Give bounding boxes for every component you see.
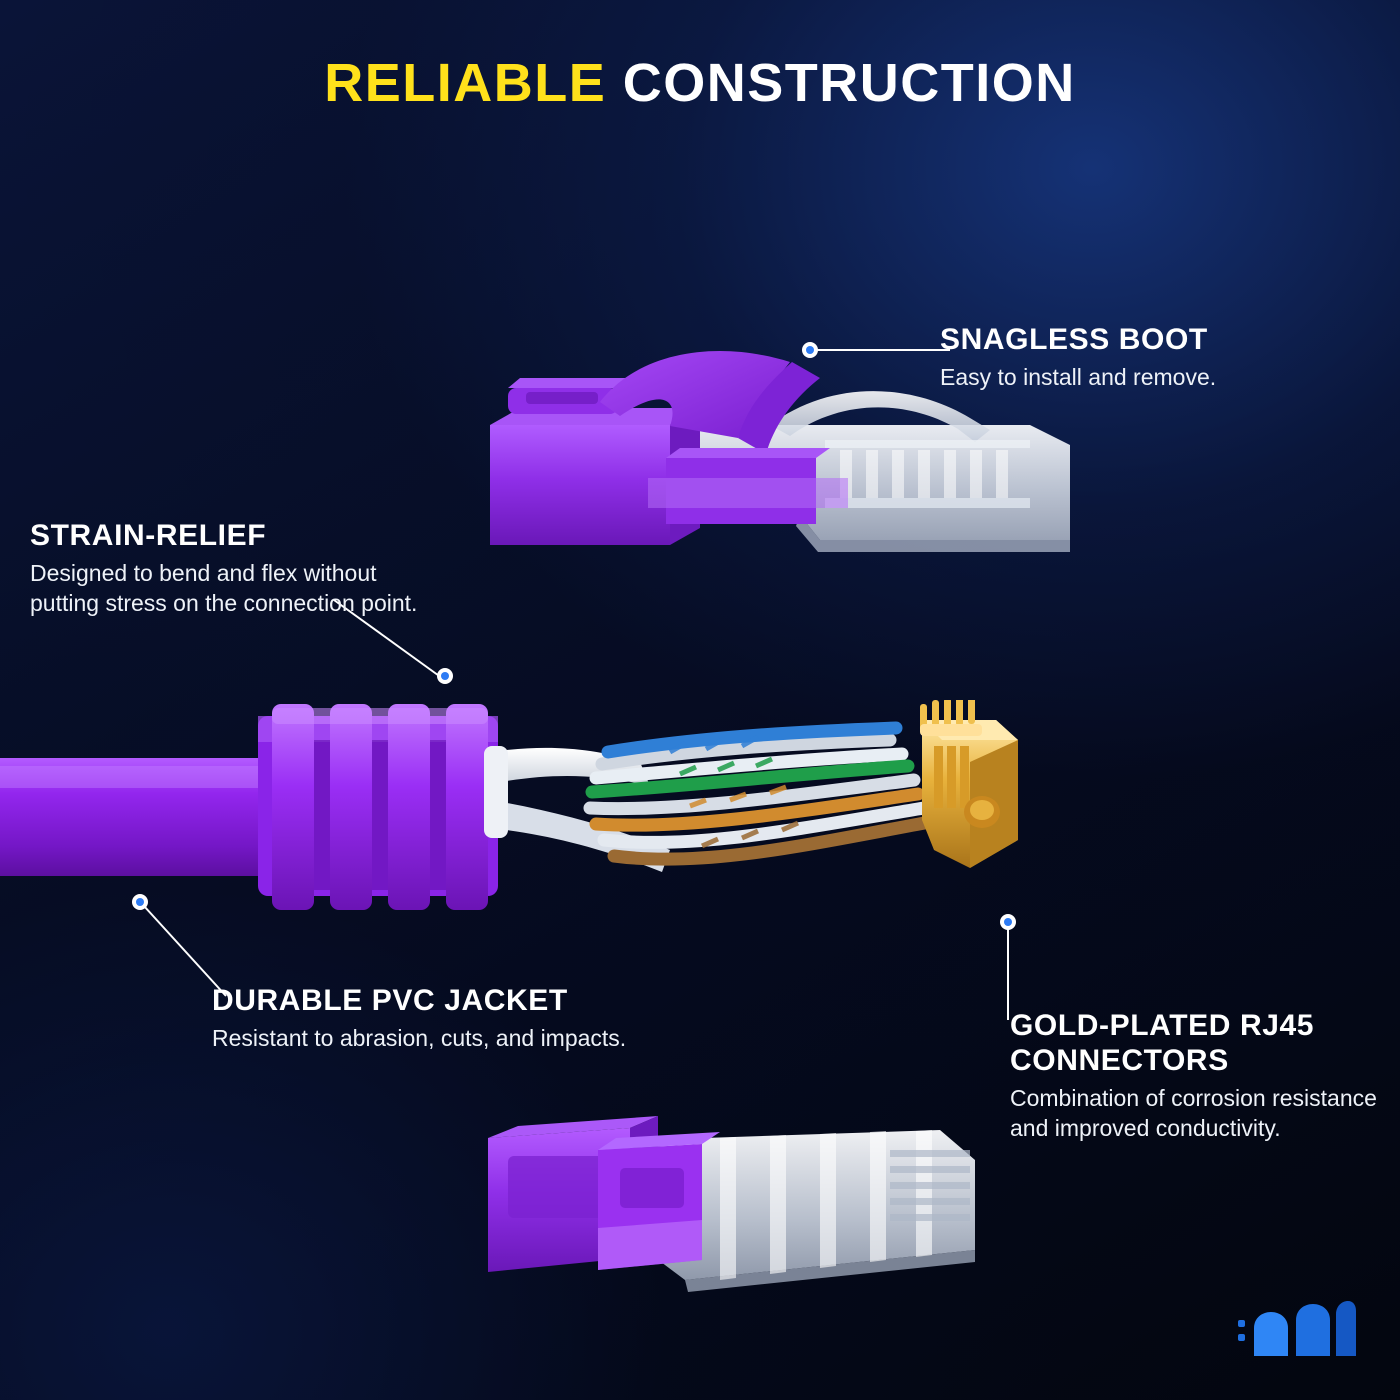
callout-heading-strain-relief: STRAIN-RELIEF bbox=[30, 518, 430, 553]
bottom-rj45-connector-illustration bbox=[470, 1110, 1000, 1300]
callout-heading-gold-plated-rj45-connectors: GOLD-PLATED RJ45 CONNECTORS bbox=[1010, 1008, 1380, 1078]
callout-body-strain-relief: Designed to bend and flex without puttin… bbox=[30, 559, 430, 618]
callout-body-gold-plated-rj45-connectors: Combination of corrosion resistance and … bbox=[1010, 1084, 1380, 1143]
callout-dot-snagless-boot bbox=[802, 342, 818, 358]
callout-snagless-boot: SNAGLESS BOOT Easy to install and remove… bbox=[940, 322, 1360, 393]
callout-gold-plated-rj45-connectors: GOLD-PLATED RJ45 CONNECTORS Combination … bbox=[1010, 1008, 1380, 1143]
brand-logo bbox=[1238, 1298, 1356, 1362]
page-title: RELIABLE CONSTRUCTION bbox=[0, 52, 1400, 114]
callout-body-snagless-boot: Easy to install and remove. bbox=[940, 363, 1360, 392]
main-cable-illustration bbox=[0, 700, 1060, 940]
callout-dot-pvc-jacket bbox=[132, 894, 148, 910]
callout-heading-snagless-boot: SNAGLESS BOOT bbox=[940, 322, 1360, 357]
callout-dot-gold-connectors bbox=[1000, 914, 1016, 930]
callout-durable-pvc-jacket: DURABLE PVC JACKET Resistant to abrasion… bbox=[212, 983, 682, 1054]
page-title-rest: CONSTRUCTION bbox=[606, 53, 1075, 113]
callout-heading-durable-pvc-jacket: DURABLE PVC JACKET bbox=[212, 983, 682, 1018]
callout-body-durable-pvc-jacket: Resistant to abrasion, cuts, and impacts… bbox=[212, 1024, 682, 1053]
page-title-highlight: RELIABLE bbox=[324, 53, 606, 113]
callout-dot-strain-relief bbox=[437, 668, 453, 684]
infographic-page: RELIABLE CONSTRUCTION bbox=[0, 0, 1400, 1400]
callout-strain-relief: STRAIN-RELIEF Designed to bend and flex … bbox=[30, 518, 430, 618]
